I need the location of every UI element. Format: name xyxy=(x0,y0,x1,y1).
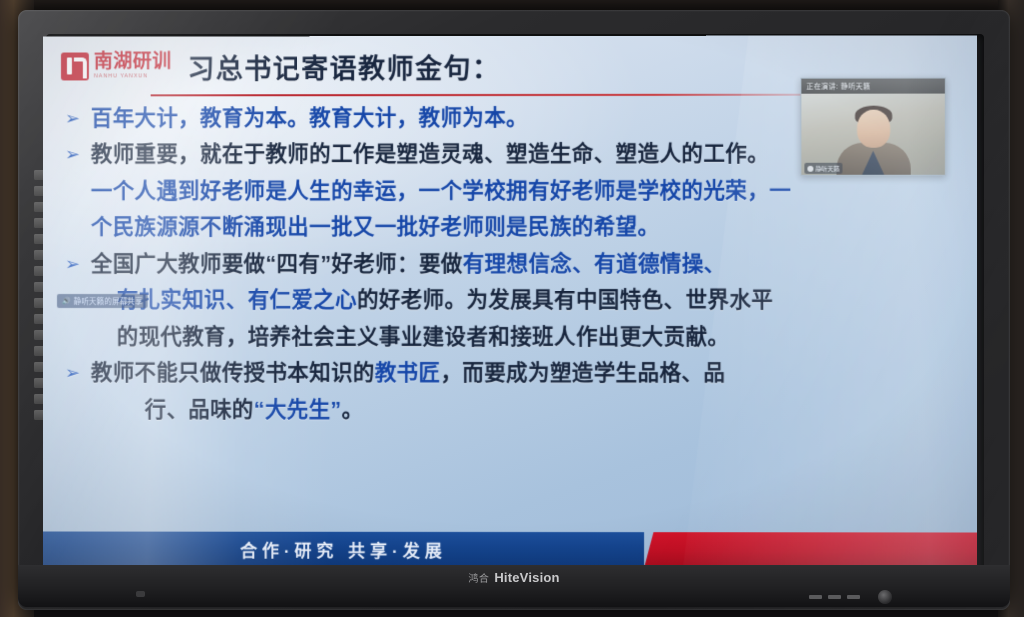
logo-text: 南湖研训 NANHU YANXUN xyxy=(94,53,172,81)
brand-name-en: HiteVision xyxy=(494,570,559,585)
slide-line-text: 百年大计，教育为本。教育大计，教师为本。 xyxy=(91,107,528,129)
logo-name-cn: 南湖研训 xyxy=(94,53,172,72)
slide-line-text: 有扎实知识、有仁爱之心的好老师。为发展具有中国特色、世界水平 xyxy=(117,290,774,312)
screen-share-toast-label: 静听天籁的屏幕共享 xyxy=(74,296,143,307)
pip-status-label: 正在演讲: 静听天籁 xyxy=(806,81,870,91)
ir-receiver xyxy=(136,591,145,597)
video-pip-window[interactable]: 正在演讲: 静听天籁 静听天籁 xyxy=(800,78,945,176)
usb-port xyxy=(828,595,841,599)
pip-person-head xyxy=(857,110,890,148)
slide-line: ➢行、品味的“大先生”。 xyxy=(65,392,963,429)
slide-line-text: 教师重要，就在于教师的工作是塑造灵魂、塑造生命、塑造人的工作。 xyxy=(91,144,769,166)
slide-line: ➢教师不能只做传授书本知识的教书匠，而要成为塑造学生品格、品 xyxy=(65,355,963,392)
text-segment: 全国广大教师要做“四有”好老师：要做 xyxy=(91,252,463,276)
slide-line-text: 个民族源源不断涌现出一批又一批好老师则是民族的希望。 xyxy=(91,217,660,239)
avatar xyxy=(807,165,813,171)
nanhu-logo: 南湖研训 NANHU YANXUN xyxy=(61,52,172,80)
text-segment: 教书匠 xyxy=(375,361,441,385)
text-segment: 教师不能只做传授书本知识的 xyxy=(91,361,375,385)
text-segment: 的好老师。为发展具有中国特色、世界水平 xyxy=(357,288,773,312)
text-segment: 一个人遇到好老师是人生的幸运，一个学校拥有好老师是学校的光荣，一 xyxy=(91,178,791,202)
pip-title-bar[interactable]: 正在演讲: 静听天籁 xyxy=(801,79,944,94)
text-segment: 的现代教育，培养社会主义事业建设者和接班人作出更大贡献。 xyxy=(117,324,730,348)
bullet-arrow-icon: ➢ xyxy=(65,144,91,165)
slide-line: ➢的现代教育，培养社会主义事业建设者和接班人作出更大贡献。 xyxy=(65,319,963,356)
slide-line: ➢一个人遇到好老师是人生的幸运，一个学校拥有好老师是学校的光荣，一 xyxy=(65,173,963,210)
display-chin: 鸿合 HiteVision xyxy=(18,565,1010,607)
slide-line-text: 行、品味的“大先生”。 xyxy=(145,399,364,421)
footer-slogan: 合作·研究 共享·发展 xyxy=(240,536,447,561)
text-segment: 行、品味的 xyxy=(145,397,254,421)
usb-port xyxy=(847,595,860,599)
headphone-jack-icon xyxy=(878,590,892,604)
pip-participant-name: 静听天籁 xyxy=(815,164,839,173)
slide-line-text: 一个人遇到好老师是人生的幸运，一个学校拥有好老师是学校的光荣，一 xyxy=(91,180,791,202)
speaker-icon: 🔊 xyxy=(62,297,71,305)
page-title: 习总书记寄语教师金句： xyxy=(188,47,501,86)
display-screen[interactable]: 南湖研训 NANHU YANXUN 习总书记寄语教师金句： ➢百年大计，教育为本… xyxy=(43,35,977,566)
slide-footer-banner: 合作·研究 共享·发展 xyxy=(43,531,977,566)
slide-line: ➢全国广大教师要做“四有”好老师：要做有理想信念、有道德情操、 xyxy=(65,246,963,283)
brand-logo: 鸿合 HiteVision xyxy=(468,570,559,585)
text-segment: 有扎实知识、有仁爱之心 xyxy=(117,288,357,312)
logo-name-en: NANHU YANXUN xyxy=(94,75,172,80)
slide-line-text: 全国广大教师要做“四有”好老师：要做有理想信念、有道德情操、 xyxy=(91,253,726,275)
port-group xyxy=(809,595,860,599)
text-segment: 有理想信念、有道德情操、 xyxy=(463,251,726,275)
pip-video-feed[interactable]: 静听天籁 xyxy=(801,94,944,176)
pip-participant-badge: 静听天籁 xyxy=(804,163,842,174)
slide-line-text: 的现代教育，培养社会主义事业建设者和接班人作出更大贡献。 xyxy=(117,326,730,348)
footer-blue-band: 合作·研究 共享·发展 xyxy=(43,531,644,566)
text-segment: ，而要成为塑造学生品格、品 xyxy=(440,361,725,385)
text-segment: 。 xyxy=(342,397,364,421)
bullet-arrow-icon: ➢ xyxy=(65,108,91,129)
footer-red-band xyxy=(645,532,978,566)
text-segment: 个民族源源不断涌现出一批又一批好老师则是民族的希望。 xyxy=(91,215,660,239)
text-segment: 教师重要，就在于教师的工作是塑造灵魂、塑造生命、塑造人的工作。 xyxy=(91,142,769,166)
bullet-arrow-icon: ➢ xyxy=(65,363,91,384)
bullet-arrow-icon: ➢ xyxy=(65,254,91,275)
text-segment: 百年大计，教育为本。教育大计，教师为本。 xyxy=(91,105,528,129)
usb-port xyxy=(809,595,822,599)
slide-line: ➢有扎实知识、有仁爱之心的好老师。为发展具有中国特色、世界水平 xyxy=(65,282,963,319)
text-segment: “大先生” xyxy=(254,397,342,421)
slide-line-text: 教师不能只做传授书本知识的教书匠，而要成为塑造学生品格、品 xyxy=(91,363,725,385)
logo-mark-icon xyxy=(61,52,89,80)
screen-share-toast: 🔊 静听天籁的屏幕共享 xyxy=(57,294,148,308)
slide-line: ➢个民族源源不断涌现出一批又一批好老师则是民族的希望。 xyxy=(65,209,963,246)
title-divider xyxy=(151,94,851,97)
brand-name-cn: 鸿合 xyxy=(468,570,489,585)
